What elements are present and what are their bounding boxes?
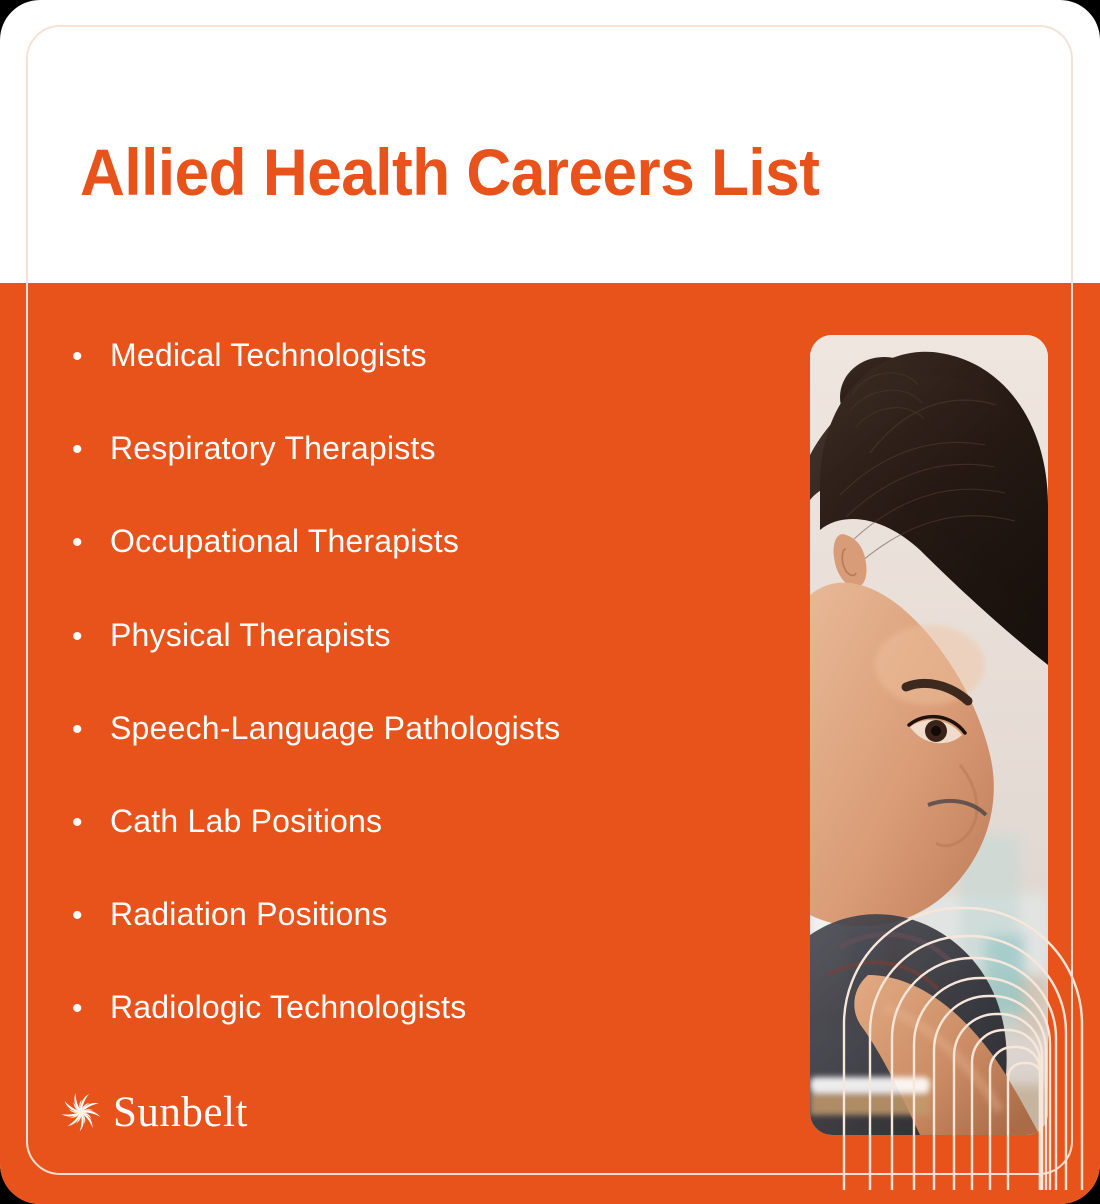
list-item: • Cath Lab Positions	[72, 804, 772, 839]
bullet-icon: •	[72, 340, 110, 373]
sunbelt-wordmark: Sunbelt	[113, 1091, 248, 1134]
list-item-label: Medical Technologists	[110, 338, 427, 373]
healthcare-worker-photo	[810, 335, 1048, 1135]
poster-card: Allied Health Careers List	[0, 0, 1100, 1204]
list-item: • Radiation Positions	[72, 897, 772, 932]
sunbelt-logo: Sunbelt	[57, 1088, 248, 1136]
sunbelt-swirl-icon	[57, 1088, 105, 1136]
list-item-label: Speech-Language Pathologists	[110, 711, 560, 746]
careers-list: • Medical Technologists • Respiratory Th…	[72, 338, 772, 1026]
bullet-icon: •	[72, 713, 110, 746]
list-item: • Occupational Therapists	[72, 524, 772, 559]
bullet-icon: •	[72, 620, 110, 653]
list-item-label: Physical Therapists	[110, 618, 391, 653]
list-item: • Medical Technologists	[72, 338, 772, 373]
list-item-label: Cath Lab Positions	[110, 804, 382, 839]
list-item-label: Radiation Positions	[110, 897, 388, 932]
list-item: • Speech-Language Pathologists	[72, 711, 772, 746]
header: Allied Health Careers List	[0, 0, 1100, 283]
bullet-icon: •	[72, 526, 110, 559]
list-item-label: Radiologic Technologists	[110, 990, 466, 1025]
bullet-icon: •	[72, 992, 110, 1025]
list-item: • Physical Therapists	[72, 618, 772, 653]
list-item-label: Occupational Therapists	[110, 524, 459, 559]
list-item-label: Respiratory Therapists	[110, 431, 436, 466]
bullet-icon: •	[72, 433, 110, 466]
bullet-icon: •	[72, 806, 110, 839]
list-item: • Respiratory Therapists	[72, 431, 772, 466]
list-item: • Radiologic Technologists	[72, 990, 772, 1025]
page-title: Allied Health Careers List	[80, 139, 819, 205]
bullet-icon: •	[72, 899, 110, 932]
